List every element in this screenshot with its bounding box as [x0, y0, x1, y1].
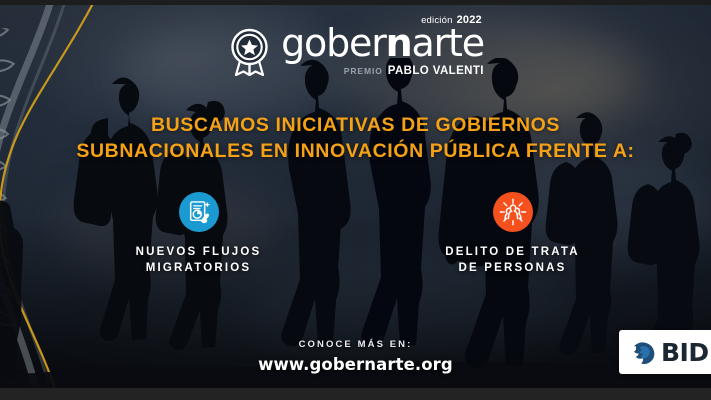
- logo-prize-word: PREMIO: [344, 66, 383, 76]
- theme-label-trafficking: DELITO DE TRATA DE PERSONAS: [415, 244, 611, 276]
- page-title: BUSCAMOS INICIATIVAS DE GOBIERNOS SUBNAC…: [0, 112, 711, 164]
- bid-sponsor-logo: BID: [619, 330, 711, 374]
- wordmark-part-1: gober: [281, 21, 386, 65]
- headline-line-1: BUSCAMOS INICIATIVAS DE GOBIERNOS: [0, 112, 711, 138]
- wordmark-part-2: n: [386, 21, 412, 65]
- wordmark-part-3: arte: [411, 21, 483, 65]
- bid-globe-icon: [631, 340, 656, 365]
- theme-list: NUEVOS FLUJOS MIGRATORIOS: [0, 192, 711, 276]
- logo-prize-row: PREMIO PABLO VALENTI: [281, 65, 484, 77]
- theme-item-migration: NUEVOS FLUJOS MIGRATORIOS: [101, 192, 297, 276]
- bid-logo-text: BID: [661, 340, 709, 365]
- people-crosshair-icon: [493, 192, 533, 232]
- theme-label-migration: NUEVOS FLUJOS MIGRATORIOS: [101, 244, 297, 276]
- logo-edition-year: 2022: [457, 14, 482, 26]
- theme-label-line-1: NUEVOS FLUJOS: [101, 244, 297, 260]
- letterbox-bar-bottom: [0, 388, 711, 400]
- award-medal-icon: [227, 28, 272, 76]
- theme-item-trafficking: DELITO DE TRATA DE PERSONAS: [415, 192, 611, 276]
- theme-label-line-1: DELITO DE TRATA: [415, 244, 611, 260]
- cta-website-url[interactable]: www.gobernarte.org: [0, 355, 711, 374]
- logo-prize-name: PABLO VALENTI: [388, 65, 484, 77]
- theme-label-line-2: MIGRATORIOS: [101, 260, 297, 276]
- call-to-action: CONOCE MÁS EN: www.gobernarte.org: [0, 339, 711, 374]
- logo-edition-word: edición: [421, 15, 453, 26]
- cta-kicker-text: CONOCE MÁS EN:: [0, 339, 711, 350]
- headline-line-2: SUBNACIONALES EN INNOVACIÓN PÚBLICA FREN…: [0, 138, 711, 164]
- document-chart-hand-icon: [179, 192, 219, 232]
- banner-stage: edición 2022 gobernarte PREMIO PABLO VAL…: [0, 0, 711, 400]
- gobernarte-logo-lockup: edición 2022 gobernarte PREMIO PABLO VAL…: [0, 24, 711, 77]
- logo-wordmark: gobernarte: [281, 24, 484, 62]
- letterbox-bar-top: [0, 0, 711, 5]
- theme-label-line-2: DE PERSONAS: [415, 260, 611, 276]
- logo-edition-row: edición 2022: [421, 14, 482, 26]
